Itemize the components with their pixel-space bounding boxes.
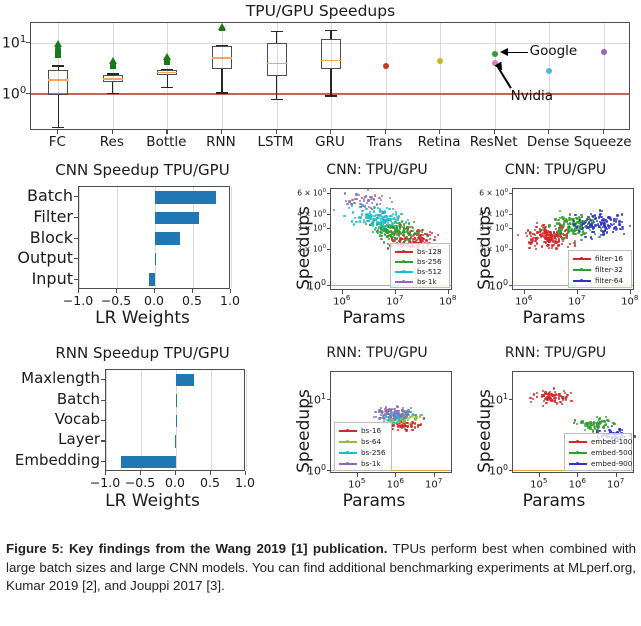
scatter-point [532, 233, 534, 235]
scatter-point [545, 402, 547, 404]
gridline-vertical [106, 370, 107, 470]
boxplot-xtick-retina: Retina [418, 134, 461, 150]
scatter-point [528, 247, 530, 249]
scatter-point [603, 232, 605, 234]
legend-marker-bs-256 [346, 451, 349, 454]
scatter-point [607, 224, 609, 226]
bar-xtick-label: −0.5 [101, 293, 131, 308]
boxplot-cap-lower [271, 99, 283, 100]
bar-ytick [101, 400, 105, 401]
scatter-point [561, 403, 563, 405]
legend-label-bs-16: bs-16 [361, 426, 381, 435]
scatter-point [545, 226, 547, 228]
scatter-xtick [395, 473, 396, 477]
scatter-point [556, 402, 558, 404]
scatter-point [584, 236, 586, 238]
boxplot-ytick-label: 101 [2, 34, 26, 52]
scatter-point [373, 210, 375, 212]
legend-label-bs-1k: bs-1k [361, 459, 381, 468]
bar-xtick [116, 289, 117, 293]
scatter-point [392, 227, 394, 229]
scatter-xtick [342, 290, 343, 294]
scatter-point [576, 423, 578, 425]
panel-cnn-speedup-bar: CNN Speedup TPU/GPU LR Weights BatchFilt… [0, 160, 285, 340]
bar-layer [175, 435, 177, 448]
scatter-point [385, 414, 387, 416]
bar-ylabel-layer: Layer [0, 430, 100, 448]
bar-output [155, 253, 156, 266]
scatter-point [407, 232, 409, 234]
legend-marker-bs-128 [402, 250, 405, 253]
boxplot-xtick-resnet: ResNet [470, 134, 518, 150]
bar-maxlength [176, 374, 194, 387]
bar-xtick-label: −1.0 [90, 475, 120, 490]
scatter-point [600, 223, 602, 225]
scatter-point [345, 200, 347, 202]
scatter-xtick-label: 105 [348, 476, 365, 490]
scatter-ytick [509, 470, 513, 471]
scatter-point [348, 207, 350, 209]
scatter-point [358, 216, 360, 218]
scatter-point [353, 223, 355, 225]
scatter-xtick [539, 473, 540, 477]
legend-marker-bs-512 [402, 270, 405, 273]
scatter-point [619, 228, 621, 230]
scatter-point [406, 227, 408, 229]
scatter-point [398, 410, 400, 412]
scatter-point [541, 394, 543, 396]
scatter-point [623, 233, 625, 235]
scatter-point [403, 425, 405, 427]
boxplot-xtick-mark [494, 130, 495, 134]
cnn-scatter-bs-axes: bs-128bs-256bs-512bs-1k [330, 188, 452, 290]
scatter-ytick [509, 285, 513, 286]
scatter-point [429, 231, 431, 233]
scatter-point [557, 231, 559, 233]
legend-label-bs-64: bs-64 [361, 437, 381, 446]
scatter-point [426, 235, 428, 237]
scatter-ytick-label: 6 × 100 [462, 188, 508, 198]
scatter-point [394, 417, 396, 419]
scatter-point [403, 223, 405, 225]
scatter-point [396, 237, 398, 239]
scatter-point [621, 221, 623, 223]
cnn-bar-axes [78, 186, 230, 289]
bar-ytick [101, 420, 105, 421]
scatter-point [397, 429, 399, 431]
scatter-point [621, 213, 623, 215]
scatter-point [394, 228, 396, 230]
scatter-point [525, 232, 527, 234]
scatter-point [364, 196, 366, 198]
bar-ytick [101, 379, 105, 380]
bar-ylabel-maxlength: Maxlength [0, 369, 100, 387]
scatter-ytick-label: 100 [288, 463, 326, 478]
scatter-point [590, 225, 592, 227]
scatter-point [333, 209, 335, 211]
boxplot-ytick [26, 93, 30, 94]
scatter-ytick [327, 228, 331, 229]
legend-marker-embed-100 [576, 440, 579, 443]
boxplot-point-squeeze [601, 49, 607, 55]
scatter-ytick-label: 100 [288, 278, 326, 293]
scatter-point [379, 203, 381, 205]
scatter-point [398, 234, 400, 236]
scatter-point [536, 242, 538, 244]
scatter-point [607, 216, 609, 218]
scatter-xtick [357, 473, 358, 477]
scatter-point [352, 211, 354, 213]
scatter-point [407, 219, 409, 221]
scatter-xtick-label: 107 [607, 476, 624, 490]
legend-label-embed-100: embed-100 [591, 437, 632, 446]
scatter-point [629, 225, 631, 227]
bar-ytick [74, 217, 78, 218]
scatter-point [407, 238, 409, 240]
scatter-point [381, 195, 383, 197]
scatter-point [353, 202, 355, 204]
scatter-point [401, 413, 403, 415]
rnn-scatter-embed-xlabel: Params [468, 491, 640, 511]
panel-tpu-gpu-speedups: TPU/GPU Speedups 100101FCResBottleRNNLST… [0, 0, 641, 155]
scatter-point [350, 203, 352, 205]
scatter-point [365, 216, 367, 218]
scatter-point [395, 222, 397, 224]
scatter-point [593, 221, 595, 223]
panel-rnn-speedup-bar: RNN Speedup TPU/GPU LR Weights Maxlength… [0, 343, 285, 525]
boxplot-xtick-mark [603, 130, 604, 134]
rnn-scatter-embed-title: RNN: TPU/GPU [470, 345, 641, 361]
scatter-ytick-label: 4 × 100 [462, 209, 508, 219]
scatter-point [344, 192, 346, 194]
scatter-point [622, 228, 624, 230]
scatter-ytick [327, 470, 331, 471]
boxplot-median [212, 57, 232, 59]
scatter-point [392, 213, 394, 215]
scatter-point [411, 429, 413, 431]
boxplot-xtick-rnn: RNN [206, 134, 236, 150]
boxplot-outlier-tip [109, 57, 117, 64]
scatter-point [602, 420, 604, 422]
scatter-point [546, 237, 548, 239]
legend-marker-filter-32 [580, 268, 583, 271]
boxplot-xtick-trans: Trans [367, 134, 403, 150]
scatter-point [533, 393, 535, 395]
scatter-point [536, 396, 538, 398]
scatter-point [517, 234, 519, 236]
legend-label-bs-1k: bs-1k [417, 277, 437, 286]
boxplot-cap-upper [52, 65, 64, 66]
gridline-vertical [495, 23, 496, 129]
boxplot-cap-upper [325, 30, 337, 31]
scatter-point [367, 189, 369, 191]
gridline-vertical [117, 187, 118, 288]
boxplot-xtick-mark [439, 130, 440, 134]
scatter-point [594, 224, 596, 226]
scatter-point [559, 210, 561, 212]
boxplot-ytick [26, 42, 30, 43]
scatter-point [604, 230, 606, 232]
scatter-point [397, 425, 399, 427]
legend-label-embed-500: embed-500 [591, 448, 632, 457]
bar-xtick [154, 289, 155, 293]
scatter-point [535, 226, 537, 228]
scatter-point [554, 218, 556, 220]
boxplot-box [321, 39, 341, 68]
boxplot-xtick-gru: GRU [315, 134, 345, 150]
scatter-point [384, 225, 386, 227]
scatter-point [615, 229, 617, 231]
scatter-point [605, 416, 607, 418]
boxplot-outlier-tip [163, 53, 171, 60]
scatter-point [550, 393, 552, 395]
boxplot-whisker-lower [112, 82, 113, 93]
boxplot-xtick-fc: FC [49, 134, 66, 150]
scatter-point [528, 241, 530, 243]
scatter-point [557, 219, 559, 221]
scatter-point [374, 411, 376, 413]
scatter-ytick-label: 2 × 100 [288, 244, 326, 254]
scatter-point [385, 406, 387, 408]
scatter-point [423, 417, 425, 419]
scatter-point [580, 239, 582, 241]
scatter-xtick [395, 290, 396, 294]
scatter-ytick [327, 399, 331, 400]
scatter-xtick-label: 108 [439, 293, 456, 307]
scatter-point [397, 230, 399, 232]
boxplot-cap-lower [216, 92, 228, 93]
scatter-point [530, 238, 532, 240]
scatter-point [356, 198, 358, 200]
scatter-ytick [327, 249, 331, 250]
panel-rnn-scatter-batchsize: RNN: TPU/GPU bs-16bs-64bs-256bs-1k Param… [288, 343, 460, 525]
legend-label-embed-900: embed-900 [591, 459, 632, 468]
scatter-point [355, 221, 357, 223]
scatter-point [551, 244, 553, 246]
bar-vocab [176, 415, 177, 428]
boxplot-cap-lower [107, 93, 119, 94]
legend-label-bs-512: bs-512 [417, 267, 442, 276]
scatter-point [612, 231, 614, 233]
scatter-point [574, 419, 576, 421]
boxplot-whisker-upper [330, 30, 331, 40]
scatter-point [570, 229, 572, 231]
boxplot-median [321, 60, 341, 62]
boxplot-cap-lower [325, 95, 337, 96]
scatter-point [410, 407, 412, 409]
scatter-point [567, 246, 569, 248]
scatter-point [433, 239, 435, 241]
legend-marker-bs-16 [346, 429, 349, 432]
bar-ytick [101, 440, 105, 441]
scatter-point [574, 240, 576, 242]
gridline-vertical [549, 23, 550, 129]
boxplot-cap-upper [271, 31, 283, 32]
scatter-xtick-label: 108 [621, 293, 638, 307]
scatter-point [371, 202, 373, 204]
scatter-point [584, 429, 586, 431]
boxplot-cap-lower [161, 87, 173, 88]
bar-ytick [74, 196, 78, 197]
bar-xtick-label: 0.5 [182, 293, 202, 308]
scatter-point [608, 227, 610, 229]
scatter-point [343, 215, 345, 217]
bar-xtick-label: −0.5 [125, 475, 155, 490]
scatter-point [562, 238, 564, 240]
scatter-point [399, 237, 401, 239]
scatter-ytick [327, 193, 331, 194]
scatter-point [351, 199, 353, 201]
scatter-point [376, 230, 378, 232]
scatter-point [394, 232, 396, 234]
legend-label-bs-128: bs-128 [417, 247, 442, 256]
scatter-point [581, 216, 583, 218]
scatter-point [359, 200, 361, 202]
scatter-point [418, 424, 420, 426]
rnn-scatter-bs-xlabel: Params [288, 491, 460, 511]
bar-ylabel-batch: Batch [0, 390, 100, 408]
scatter-point [573, 223, 575, 225]
scatter-legend: embed-100embed-500embed-900 [564, 433, 632, 471]
scatter-point [380, 407, 382, 409]
scatter-point [553, 387, 555, 389]
scatter-point [383, 415, 385, 417]
boxplot-median [48, 79, 68, 81]
scatter-point [550, 400, 552, 402]
scatter-point [588, 426, 590, 428]
bar-ytick [74, 238, 78, 239]
scatter-point [594, 233, 596, 235]
bar-batch [155, 191, 216, 204]
rnn-bar-xlabel: LR Weights [20, 491, 285, 511]
scatter-point [391, 201, 393, 203]
scatter-point [380, 238, 382, 240]
boxplot-point-dense [546, 68, 552, 74]
gridline-vertical [246, 370, 247, 470]
scatter-point [570, 400, 572, 402]
annotation-google: Google [530, 43, 578, 59]
scatter-point [363, 221, 365, 223]
scatter-point [389, 197, 391, 199]
scatter-point [409, 411, 411, 413]
scatter-point [574, 244, 576, 246]
scatter-point [354, 217, 356, 219]
gridline-vertical [231, 187, 232, 288]
scatter-point [346, 203, 348, 205]
scatter-point [558, 240, 560, 242]
bar-batch [176, 394, 177, 407]
boxplot-cap-lower [52, 127, 64, 128]
scatter-ytick-label: 3 × 100 [462, 223, 508, 233]
bar-ylabel-vocab: Vocab [0, 410, 100, 428]
scatter-ytick-label: 4 × 100 [288, 209, 326, 219]
boxplot-xtick-mark [112, 130, 113, 134]
boxplot-point-resnet-google [492, 51, 498, 57]
boxplot-outlier-tip [54, 40, 62, 47]
scatter-point [536, 222, 538, 224]
scatter-point [600, 216, 602, 218]
legend-label-bs-256: bs-256 [361, 448, 386, 457]
scatter-point [548, 224, 550, 226]
scatter-ytick-label: 100 [462, 278, 508, 293]
boxplot-box [48, 70, 68, 95]
bar-xtick-label: 1.0 [220, 293, 240, 308]
bar-ytick [74, 279, 78, 280]
rnn-scatter-embed-axes: embed-100embed-500embed-900 [512, 371, 634, 473]
scatter-point [569, 213, 571, 215]
scatter-point [534, 245, 536, 247]
scatter-point [437, 234, 439, 236]
scatter-xtick [524, 290, 525, 294]
annotation-nvidia: Nvidia [511, 88, 553, 104]
scatter-point [434, 236, 436, 238]
scatter-point [613, 423, 615, 425]
scatter-point [365, 208, 367, 210]
boxplot-point-retina [437, 58, 443, 64]
boxplot-xtick-lstm: LSTM [258, 134, 294, 150]
scatter-point [372, 231, 374, 233]
scatter-point [358, 194, 360, 196]
scatter-point [366, 202, 368, 204]
scatter-point [586, 227, 588, 229]
scatter-point [373, 206, 375, 208]
scatter-point [616, 214, 618, 216]
scatter-point [618, 428, 620, 430]
scatter-point [372, 220, 374, 222]
bar-input [149, 273, 156, 286]
scatter-point [406, 414, 408, 416]
caption-bold: Figure 5: Key findings from the Wang 201… [6, 541, 387, 556]
scatter-point [594, 214, 596, 216]
boxplot-xtick-mark [330, 130, 331, 134]
scatter-xtick-label: 106 [333, 293, 350, 307]
bar-xtick [192, 289, 193, 293]
scatter-ytick-label: 2 × 100 [462, 244, 508, 254]
bar-xtick-label: 0.0 [144, 293, 164, 308]
scatter-ytick-label: 101 [462, 392, 508, 407]
bar-xtick [175, 471, 176, 475]
scatter-point [388, 419, 390, 421]
scatter-xtick-label: 107 [386, 293, 403, 307]
scatter-point [390, 416, 392, 418]
scatter-point [388, 208, 390, 210]
scatter-ytick-label: 3 × 100 [288, 223, 326, 233]
scatter-point [558, 397, 560, 399]
boxplot-point-trans [383, 63, 389, 69]
scatter-point [361, 213, 363, 215]
scatter-point [555, 247, 557, 249]
cnn-scatter-filter-title: CNN: TPU/GPU [470, 162, 641, 178]
scatter-point [601, 210, 603, 212]
scatter-ytick [509, 214, 513, 215]
legend-marker-bs-1k [346, 462, 349, 465]
bar-xtick [140, 471, 141, 475]
scatter-point [397, 219, 399, 221]
panel-cnn-scatter-filters: CNN: TPU/GPU filter-16filter-32filter-64… [462, 160, 641, 340]
gridline-vertical [604, 23, 605, 129]
scatter-xtick-label: 107 [568, 293, 585, 307]
scatter-xtick [434, 473, 435, 477]
cnn-scatter-filter-axes: filter-16filter-32filter-64 [512, 188, 634, 290]
bar-xtick [230, 289, 231, 293]
scatter-xtick [448, 290, 449, 294]
scatter-xtick-label: 107 [425, 476, 442, 490]
scatter-point [613, 223, 615, 225]
scatter-point [542, 405, 544, 407]
boxplot-whisker-lower [58, 95, 59, 127]
bar-xtick-label: −1.0 [63, 293, 93, 308]
scatter-point [414, 422, 416, 424]
